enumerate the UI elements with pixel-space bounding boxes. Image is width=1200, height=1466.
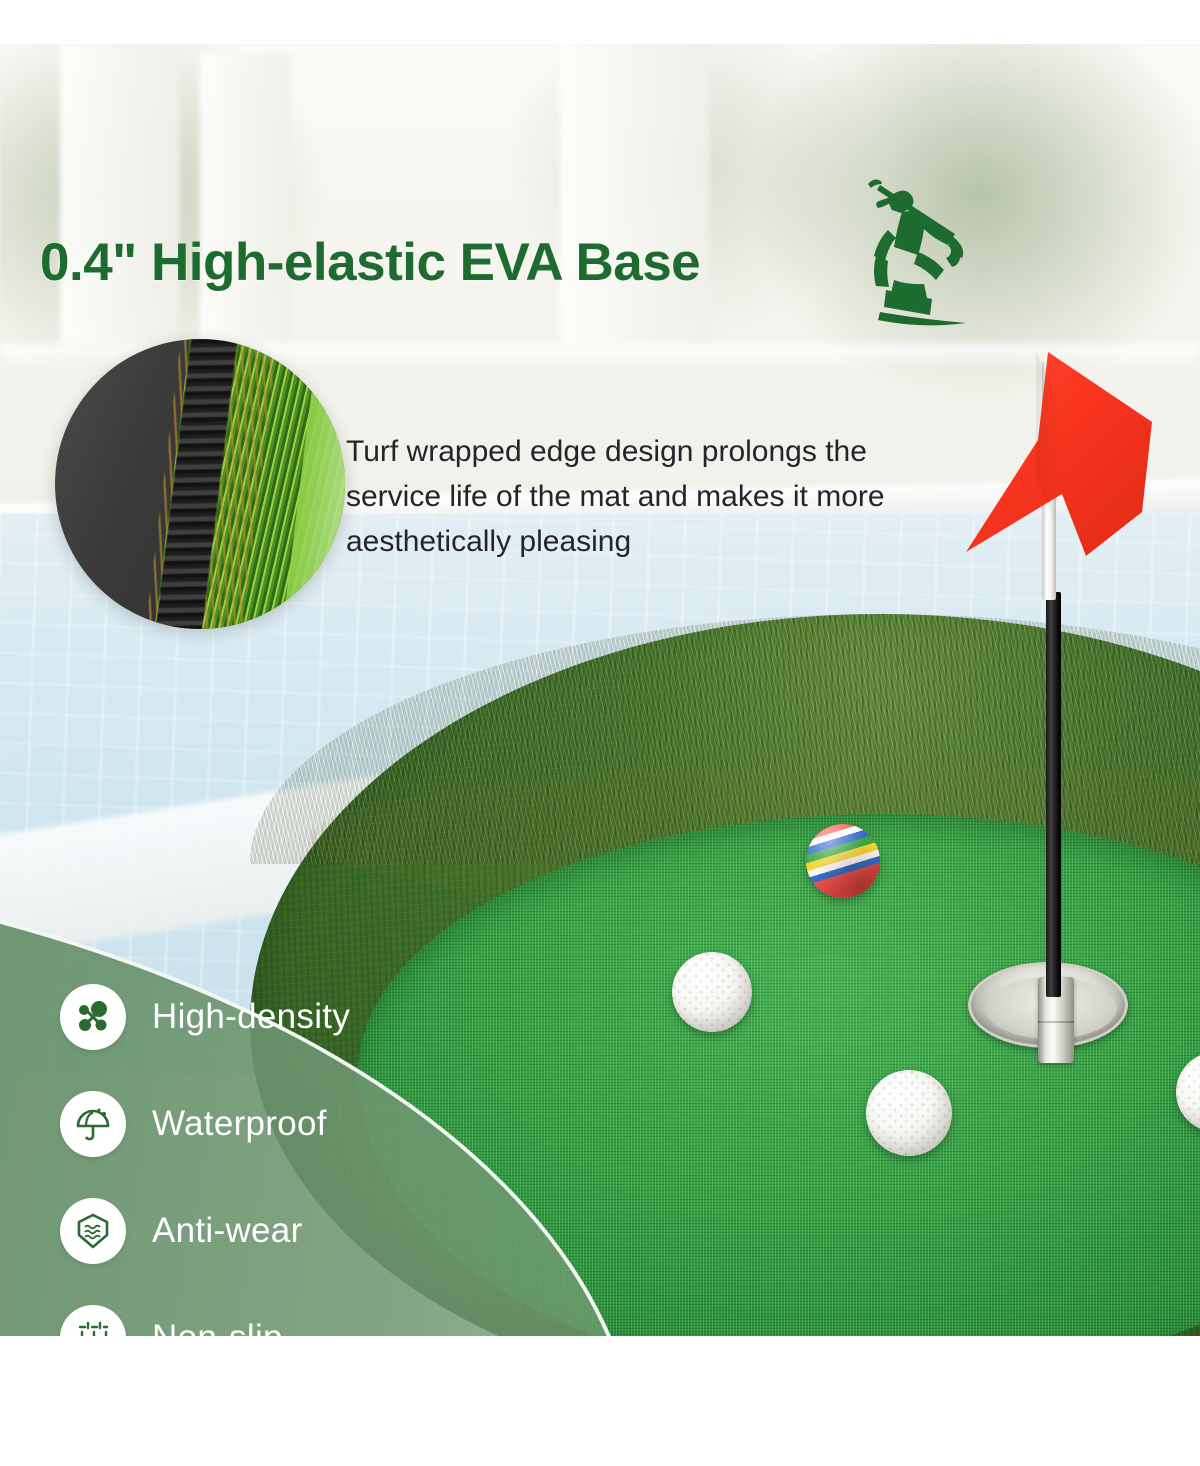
ball-shading (806, 824, 880, 898)
golf-ball (672, 952, 752, 1032)
grid-mesh-icon (60, 1305, 126, 1336)
patio-post (200, 54, 290, 344)
feature-label: Waterproof (152, 1104, 327, 1144)
feature-list: High-density Waterproof (60, 984, 480, 1336)
patio-post (560, 44, 710, 344)
feature-label: Anti-wear (152, 1211, 303, 1251)
feature-item-anti-wear: Anti-wear (60, 1198, 480, 1264)
description-text: Turf wrapped edge design prolongs the se… (346, 429, 946, 564)
golf-ball (866, 1070, 952, 1156)
umbrella-icon (60, 1091, 126, 1157)
flagstick-lower (1046, 592, 1061, 997)
shield-waves-icon (60, 1198, 126, 1264)
rainbow-foam-ball (806, 824, 880, 898)
feature-item-high-density: High-density (60, 984, 480, 1050)
feature-item-waterproof: Waterproof (60, 1091, 480, 1157)
feature-label: High-density (152, 997, 350, 1037)
feature-item-non-slip: Non-slip (60, 1305, 480, 1336)
turf-edge-closeup-photo (55, 339, 345, 629)
product-feature-image: High-density Waterproof (0, 0, 1200, 1466)
molecule-icon (60, 984, 126, 1050)
photo-scene: High-density Waterproof (0, 44, 1200, 1336)
patio-post (60, 44, 180, 344)
feature-label: Non-slip (152, 1318, 283, 1336)
golfer-silhouette-icon (858, 172, 988, 327)
page-title: 0.4" High-elastic EVA Base (40, 232, 700, 293)
